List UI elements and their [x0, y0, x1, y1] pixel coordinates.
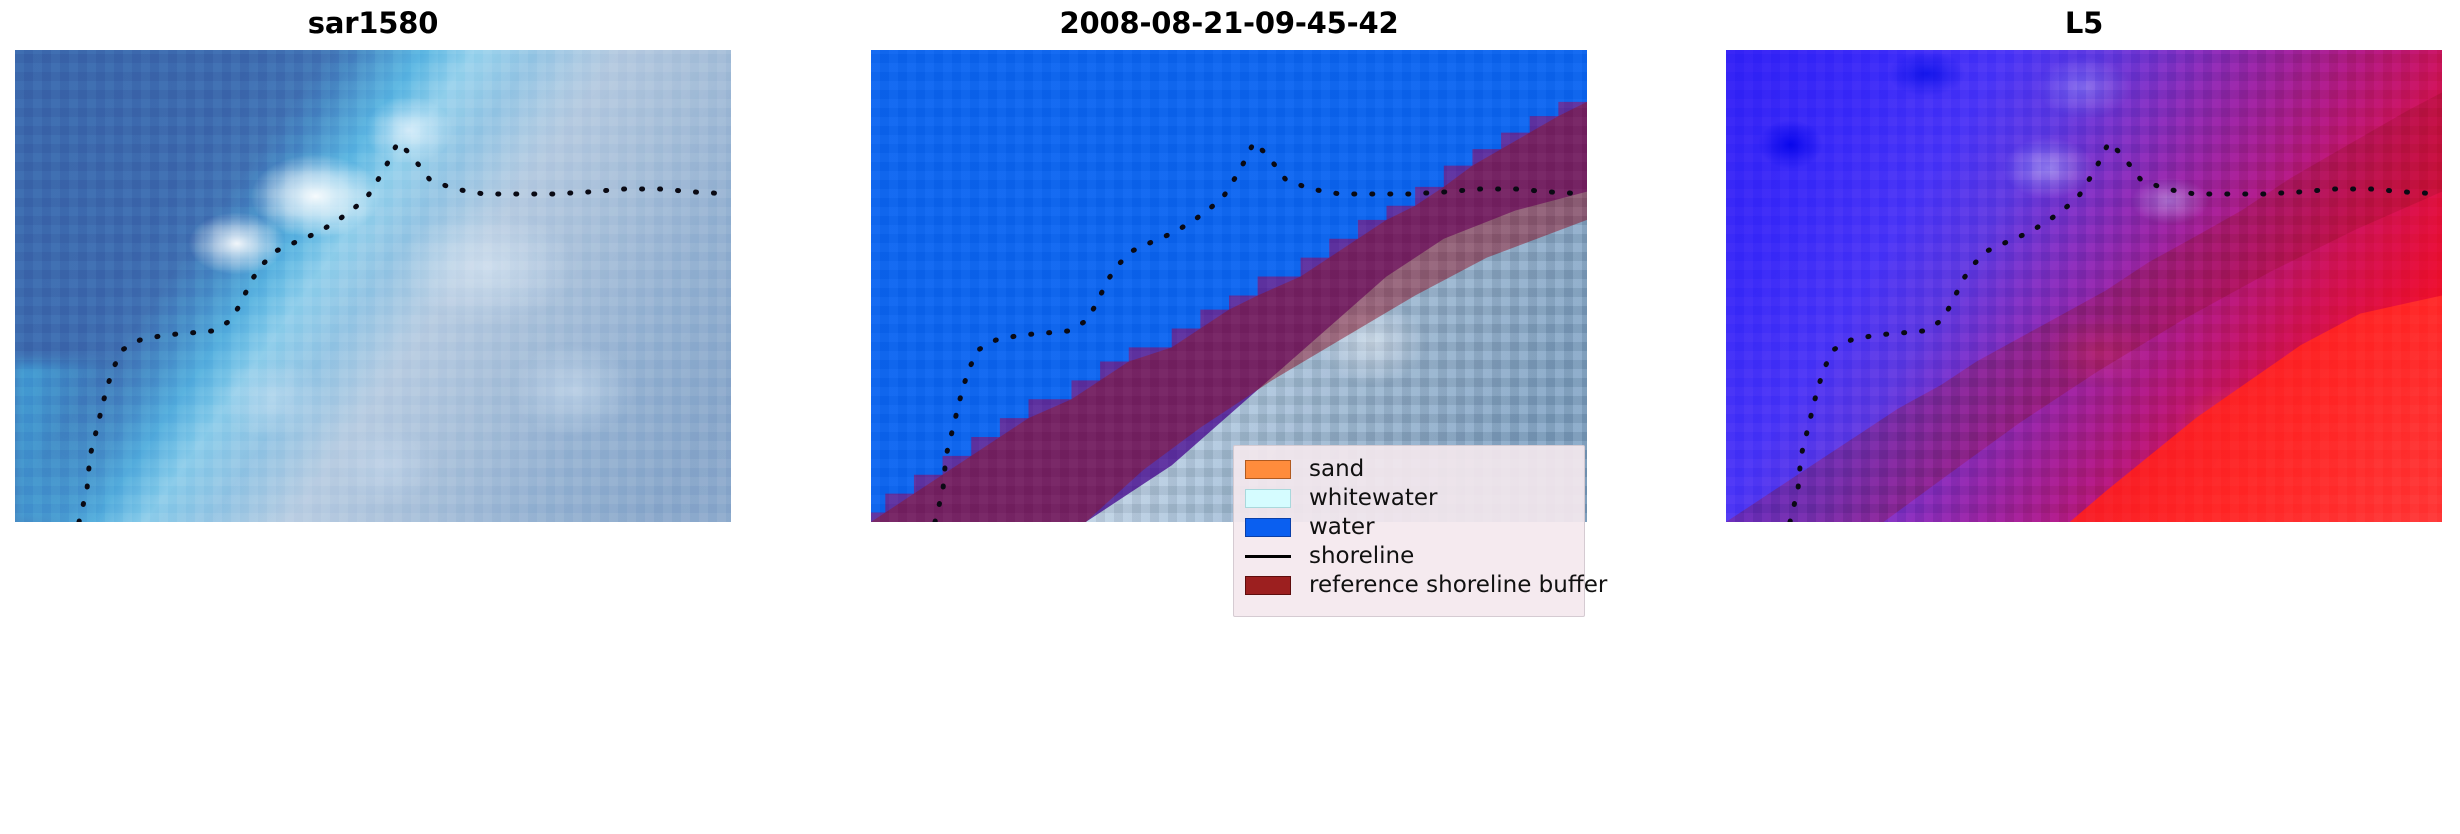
axes-l5[interactable] [1726, 50, 2442, 522]
legend-item-reference-buffer: reference shoreline buffer [1245, 571, 1571, 600]
legend-label-shoreline: shoreline [1309, 545, 1414, 568]
panel-sar1580: sar1580 [15, 0, 731, 834]
panel-title-2: 2008-08-21-09-45-42 [871, 6, 1587, 40]
sand-swatch [1245, 460, 1291, 479]
shoreline-line [1245, 555, 1291, 558]
shoreline-line-swatch [1245, 547, 1291, 566]
legend-box[interactable]: sand whitewater water shoreline referenc… [1233, 445, 1585, 617]
legend-label-reference-buffer: reference shoreline buffer [1309, 574, 1607, 597]
legend-item-water: water [1245, 513, 1571, 542]
legend-label-sand: sand [1309, 458, 1364, 481]
reference-buffer-swatch [1245, 576, 1291, 595]
figure-canvas: sar1580 2008-08-21-09-45-42 [0, 0, 2460, 834]
axes-sar1580[interactable] [15, 50, 731, 522]
whitewater-swatch [1245, 489, 1291, 508]
panel-title-3: L5 [1726, 6, 2442, 40]
panel-classification: 2008-08-21-09-45-42 [871, 0, 1587, 834]
pixel-texture [15, 50, 731, 522]
water-swatch [1245, 518, 1291, 537]
panel-title-1: sar1580 [15, 6, 731, 40]
image-l5 [1726, 50, 2442, 522]
legend-item-sand: sand [1245, 455, 1571, 484]
panel-l5: L5 [1726, 0, 2442, 834]
legend-label-water: water [1309, 516, 1375, 539]
legend-label-whitewater: whitewater [1309, 487, 1437, 510]
legend-item-shoreline: shoreline [1245, 542, 1571, 571]
pixel-texture [1726, 50, 2442, 522]
image-sar1580 [15, 50, 731, 522]
legend-item-whitewater: whitewater [1245, 484, 1571, 513]
